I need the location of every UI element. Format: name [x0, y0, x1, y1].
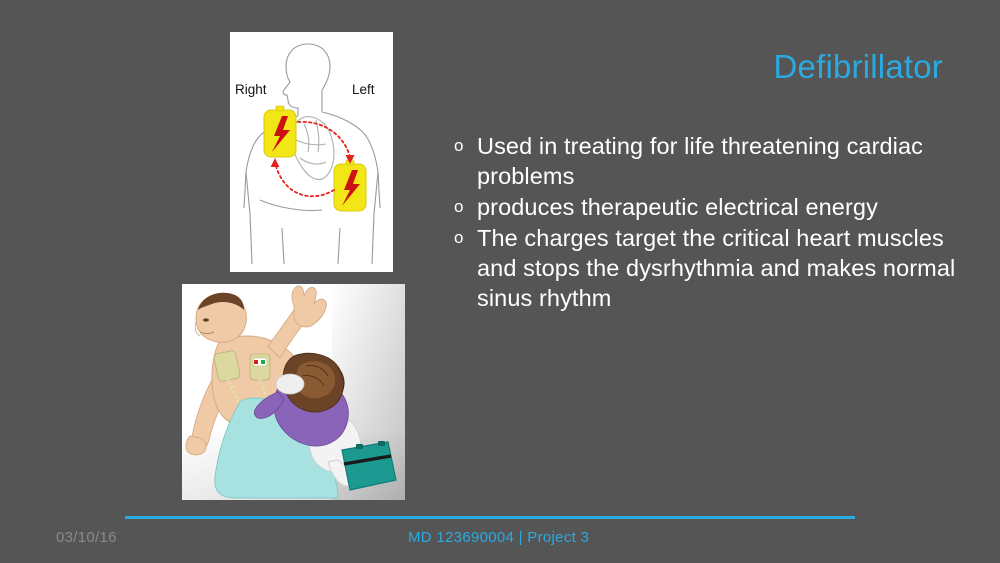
- list-item: o produces therapeutic electrical energy: [450, 192, 962, 222]
- footer-divider: [125, 516, 855, 519]
- torso-diagram-svg: Right Left: [230, 32, 393, 272]
- label-left: Left: [352, 82, 375, 97]
- bullet-marker-icon: o: [450, 223, 477, 253]
- label-right: Right: [235, 82, 267, 97]
- procedure-illustration-svg: [182, 284, 405, 500]
- footer-project-label: MD 123690004 | Project 3: [408, 529, 589, 546]
- list-item: o The charges target the critical heart …: [450, 223, 962, 313]
- bullet-text: The charges target the critical heart mu…: [477, 223, 962, 313]
- torso-pad-placement-image: Right Left: [230, 32, 393, 272]
- page-title: Defibrillator: [774, 48, 944, 86]
- bullet-text: Used in treating for life threatening ca…: [477, 131, 962, 191]
- list-item: o Used in treating for life threatening …: [450, 131, 962, 191]
- bullet-marker-icon: o: [450, 131, 477, 161]
- bullet-list: o Used in treating for life threatening …: [450, 131, 962, 314]
- defib-pad-upper: [264, 106, 296, 157]
- chest-pad-lower: [250, 354, 270, 380]
- footer-date: 03/10/16: [56, 529, 117, 546]
- defibrillation-procedure-image: [182, 284, 405, 500]
- slide-canvas: Defibrillator o Used in treating for lif…: [0, 0, 1000, 563]
- bullet-marker-icon: o: [450, 192, 477, 222]
- bullet-text: produces therapeutic electrical energy: [477, 192, 962, 222]
- defib-pad-lower: [334, 160, 366, 211]
